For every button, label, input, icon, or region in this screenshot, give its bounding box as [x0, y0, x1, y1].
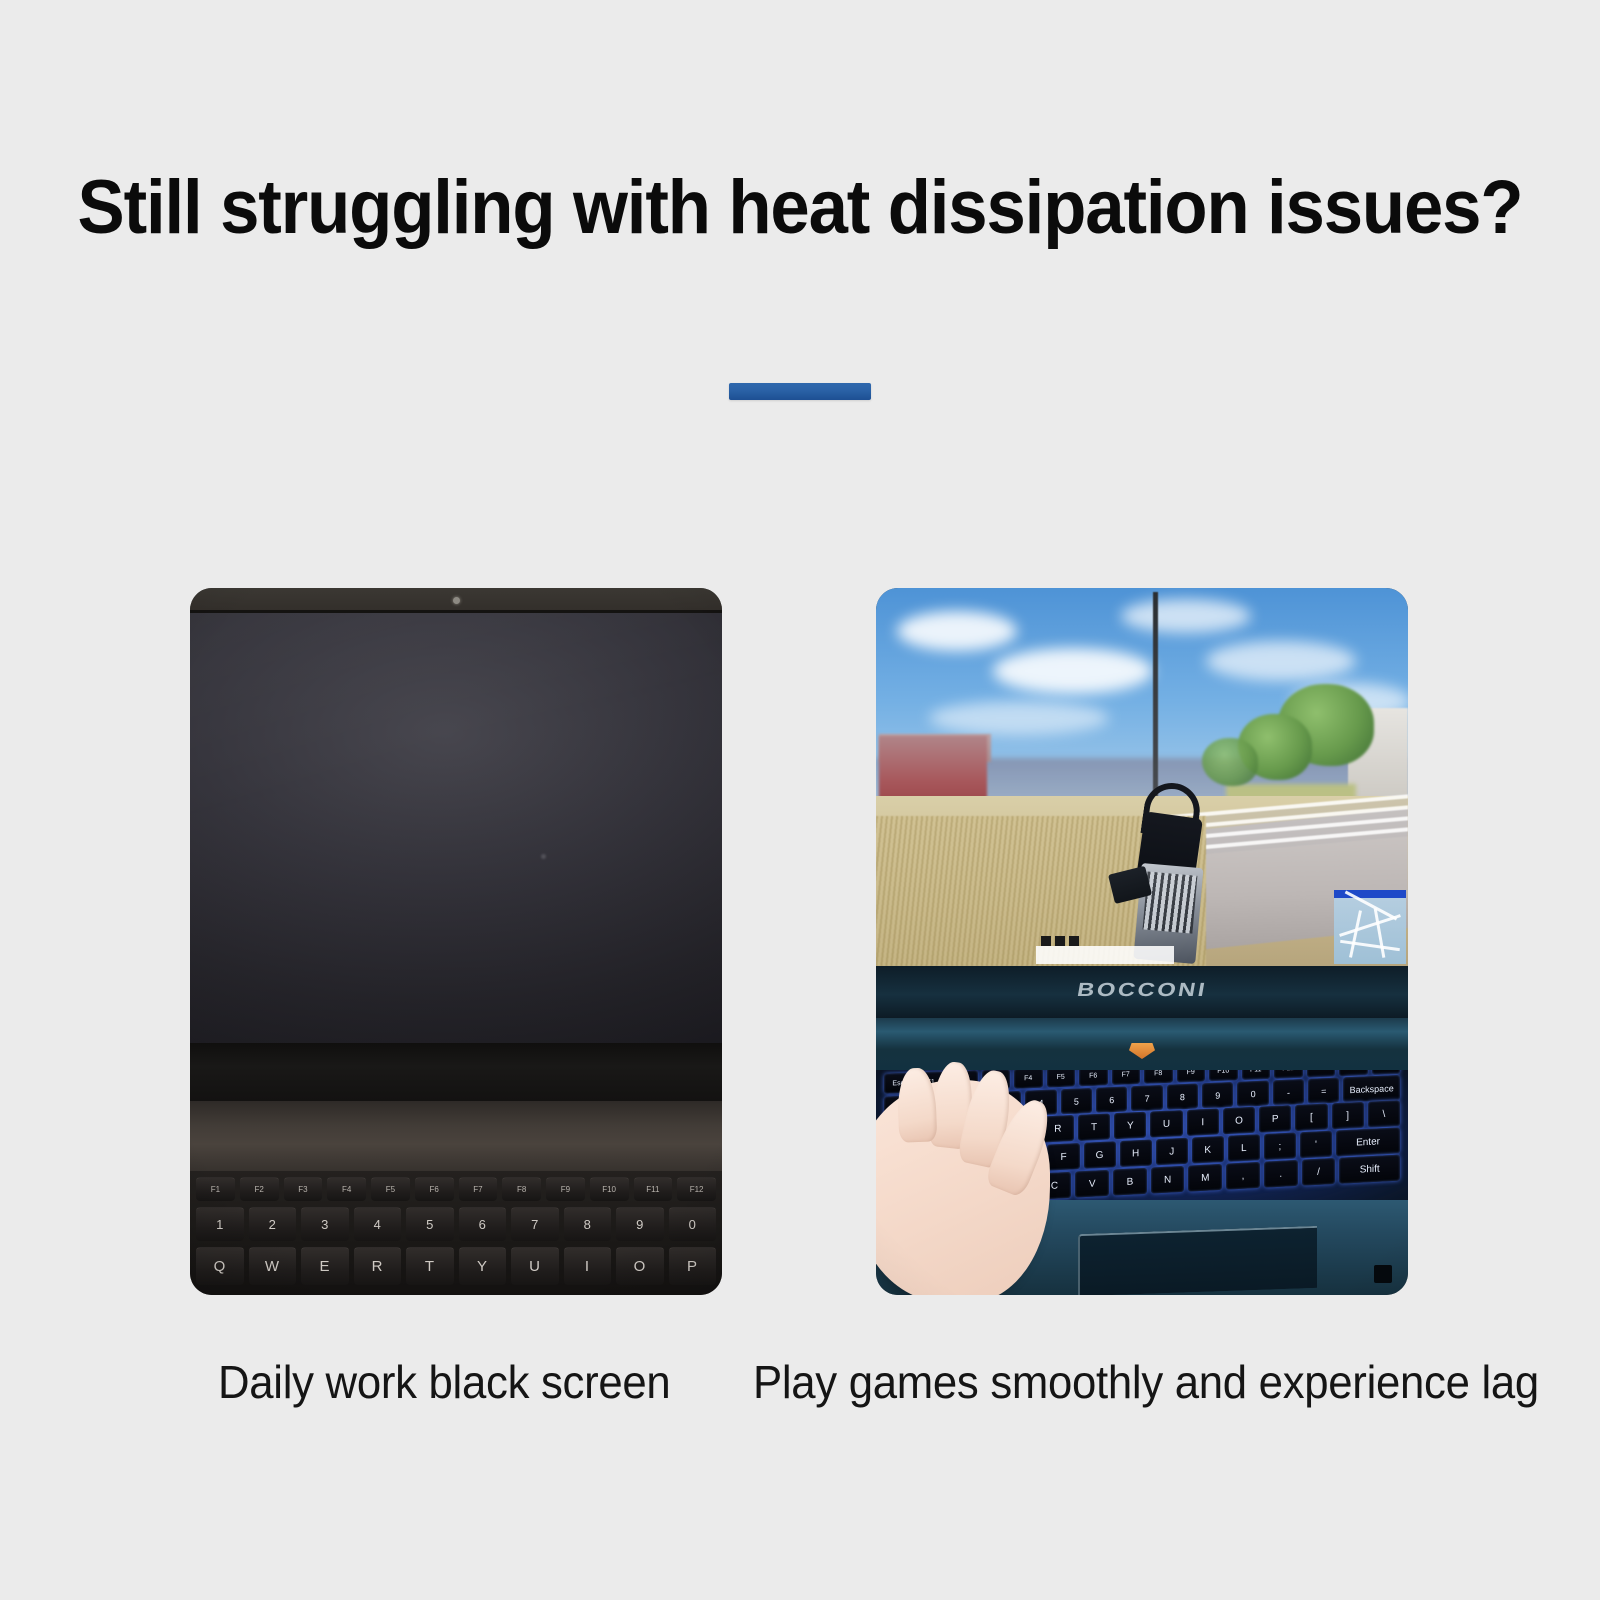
- key-cap: ]: [1332, 1102, 1364, 1129]
- cloud: [1121, 599, 1251, 633]
- minimap-road: [1349, 910, 1362, 958]
- keyboard-row-function: F1 F2 F3 F4 F5 F6 F7 F8 F9 F10 F11 F12: [190, 1177, 722, 1201]
- key-cap: ;: [1264, 1132, 1296, 1160]
- key-cap: F2: [240, 1177, 279, 1201]
- game-screen: [876, 588, 1408, 966]
- keyboard-row-qwerty: Q W E R T Y U I O P: [190, 1247, 722, 1285]
- cloud: [897, 611, 1017, 651]
- key-cap: F3: [284, 1177, 323, 1201]
- key-cap: F4: [1014, 1070, 1043, 1089]
- minimap-road: [1340, 940, 1400, 951]
- key-cap: Ins: [1339, 1070, 1368, 1076]
- key-cap: 4: [354, 1207, 402, 1241]
- key-cap: F: [1047, 1143, 1079, 1171]
- key-cap: T: [406, 1247, 454, 1285]
- key-cap: F8: [1144, 1070, 1173, 1084]
- key-cap: Del: [1307, 1070, 1336, 1077]
- cloud: [993, 648, 1153, 694]
- key-cap: =: [1308, 1078, 1339, 1104]
- caption-daily-work: Daily work black screen: [218, 1355, 670, 1409]
- key-cap: 1: [196, 1207, 244, 1241]
- key-cap: F10: [1209, 1070, 1238, 1081]
- key-cap: K: [1192, 1136, 1224, 1164]
- key-cap: 0: [669, 1207, 717, 1241]
- key-cap: F7: [1112, 1070, 1141, 1085]
- key-cap: Backspace: [1343, 1075, 1399, 1102]
- hud-bottom-bar: [1036, 946, 1174, 964]
- key-cap: 9: [1202, 1082, 1233, 1108]
- weapon-handguard: [1143, 872, 1198, 934]
- key-cap: U: [511, 1247, 559, 1285]
- key-cap: F1: [196, 1177, 235, 1201]
- key-cap: 0: [1237, 1081, 1268, 1107]
- key-cap: F10: [590, 1177, 629, 1201]
- key-cap: Y: [1114, 1112, 1146, 1139]
- key-cap: 9: [616, 1207, 664, 1241]
- key-cap: ,: [1226, 1162, 1260, 1190]
- panel-image-gaming-lag[interactable]: BOCCONI Esc F1 F2 F3 F4 F5 F6 F7 F8 F9: [876, 588, 1408, 1295]
- key-cap: I: [1187, 1108, 1219, 1135]
- screen-sheen: [190, 613, 722, 1043]
- key-cap: Q: [196, 1247, 244, 1285]
- hud-icon: [1055, 936, 1065, 946]
- key-cap: O: [1223, 1107, 1255, 1134]
- blue-accent-bar: [729, 383, 871, 400]
- key-cap: F7: [459, 1177, 498, 1201]
- webcam-icon: [453, 597, 460, 604]
- key-cap: N: [1151, 1166, 1185, 1194]
- key-cap: F5: [371, 1177, 410, 1201]
- key-cap: G: [1084, 1141, 1116, 1169]
- key-cap: ': [1300, 1131, 1332, 1159]
- key-cap: 6: [459, 1207, 507, 1241]
- key-cap: F5: [1047, 1070, 1076, 1087]
- key-cap: F12: [1274, 1070, 1303, 1079]
- caption-gaming-lag: Play games smoothly and experience lag: [753, 1355, 1539, 1409]
- key-cap: 6: [1096, 1086, 1127, 1112]
- panel-image-daily-work[interactable]: F1 F2 F3 F4 F5 F6 F7 F8 F9 F10 F11 F12 1…: [190, 588, 722, 1295]
- key-cap: F12: [677, 1177, 716, 1201]
- key-cap: B: [1113, 1168, 1147, 1196]
- divider: [0, 383, 1600, 400]
- key-cap: J: [1156, 1138, 1188, 1166]
- screen-dust-speck: [541, 854, 546, 859]
- key-cap: F6: [1079, 1070, 1108, 1086]
- hand: [876, 1080, 1050, 1295]
- key-cap: 3: [301, 1207, 349, 1241]
- promo-page: Still struggling with heat dissipation i…: [0, 0, 1600, 1600]
- key-cap: F6: [415, 1177, 454, 1201]
- key-cap: F11: [634, 1177, 673, 1201]
- hud-item-icons[interactable]: [1041, 936, 1079, 946]
- key-cap: M: [1188, 1164, 1222, 1192]
- key-cap: F11: [1242, 1070, 1271, 1080]
- key-cap: L: [1228, 1134, 1260, 1162]
- key-cap: R: [354, 1247, 402, 1285]
- key-cap: Enter: [1336, 1127, 1400, 1156]
- key-cap: O: [616, 1247, 664, 1285]
- key-cap: 7: [511, 1207, 559, 1241]
- key-cap: [: [1295, 1103, 1327, 1130]
- cloud: [929, 701, 1109, 735]
- key-cap: 2: [249, 1207, 297, 1241]
- laptop-keyboard-dark: F1 F2 F3 F4 F5 F6 F7 F8 F9 F10 F11 F12 1…: [190, 1171, 722, 1295]
- key-cap: 8: [1167, 1084, 1198, 1110]
- key-cap: Shift: [1339, 1155, 1400, 1184]
- cloud: [1206, 641, 1356, 681]
- key-cap: .: [1264, 1160, 1298, 1188]
- laptop-hinge: [190, 1101, 722, 1171]
- key-cap: P: [1259, 1105, 1291, 1132]
- key-cap: F4: [327, 1177, 366, 1201]
- key-cap: \: [1368, 1100, 1400, 1127]
- keyboard-row-numbers: 1 2 3 4 5 6 7 8 9 0: [190, 1207, 722, 1241]
- key-cap: E: [301, 1247, 349, 1285]
- key-cap: V: [1075, 1170, 1109, 1198]
- page-title: Still struggling with heat dissipation i…: [56, 168, 1544, 248]
- fingerprint-sensor-icon: [1374, 1265, 1392, 1283]
- hud-icon: [1069, 936, 1079, 946]
- trackpad[interactable]: [1078, 1226, 1317, 1295]
- laptop-screen-black: [190, 613, 722, 1043]
- key-cap: T: [1078, 1113, 1110, 1140]
- minimap-road: [1339, 914, 1401, 937]
- caption-row: Daily work black screen Play games smoot…: [0, 1355, 1600, 1435]
- key-cap: 5: [1061, 1088, 1092, 1114]
- hud-icon: [1041, 936, 1051, 946]
- lower-bezel: [190, 1043, 722, 1101]
- panel-row: F1 F2 F3 F4 F5 F6 F7 F8 F9 F10 F11 F12 1…: [0, 588, 1600, 1298]
- key-cap: /: [1302, 1158, 1336, 1186]
- key-cap: F9: [1177, 1070, 1206, 1082]
- key-cap: 8: [564, 1207, 612, 1241]
- key-cap: H: [1120, 1140, 1152, 1168]
- laptop-brand-logo: BOCCONI: [876, 980, 1408, 1002]
- key-cap: P: [669, 1247, 717, 1285]
- key-cap: U: [1150, 1110, 1182, 1137]
- key-cap: 5: [406, 1207, 454, 1241]
- minimap[interactable]: [1334, 890, 1406, 964]
- key-cap: Y: [459, 1247, 507, 1285]
- key-cap: F8: [502, 1177, 541, 1201]
- key-cap: I: [564, 1247, 612, 1285]
- key-cap: W: [249, 1247, 297, 1285]
- key-cap: F9: [546, 1177, 585, 1201]
- minimap-road: [1374, 908, 1386, 958]
- key-cap: 7: [1131, 1085, 1162, 1111]
- key-cap: -: [1273, 1079, 1304, 1105]
